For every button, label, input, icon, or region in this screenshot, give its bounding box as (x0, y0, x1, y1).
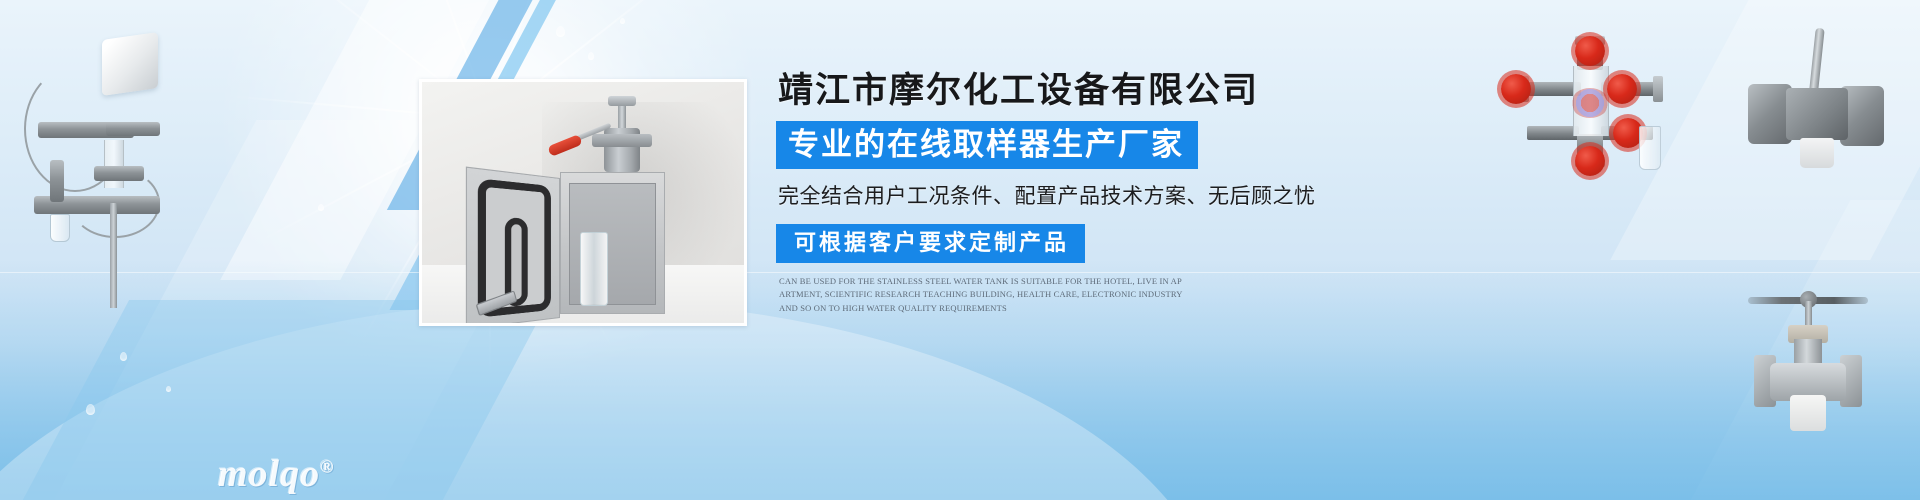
outlet-cap (1790, 395, 1826, 431)
valve-flange (1754, 355, 1776, 407)
sample-bottle (580, 232, 608, 306)
diagonal-ribbon (1670, 200, 1920, 500)
banner-text-block: 靖江市摩尔化工设备有限公司 专业的在线取样器生产厂家 完全结合用户工况条件、配置… (776, 72, 1396, 316)
cta-banner: 可根据客户要求定制产品 (776, 224, 1085, 263)
wave-highlight (0, 300, 1220, 500)
capillary-tube (70, 168, 160, 238)
left-equipment-image (10, 18, 190, 308)
water-droplet (86, 404, 95, 415)
valve-neck (1794, 339, 1822, 381)
water-droplet (620, 18, 625, 24)
watermark-text: molqo (218, 453, 320, 495)
red-handwheel-icon (1575, 36, 1605, 66)
handwheel-hub (1800, 291, 1817, 308)
valve-flange (1840, 355, 1862, 407)
capillary-tube (24, 66, 126, 192)
promo-banner: 靖江市摩尔化工设备有限公司 专业的在线取样器生产厂家 完全结合用户工况条件、配置… (0, 0, 1920, 500)
water-droplet (588, 52, 594, 60)
handwheel-bar (1748, 297, 1868, 304)
sub-headline: 完全结合用户工况条件、配置产品技术方案、无后顾之忧 (778, 186, 1396, 207)
registered-trademark-icon: ® (320, 456, 334, 476)
transmitter-housing (102, 32, 158, 96)
right-equipment-lever-valve (1740, 30, 1900, 200)
sight-glass-chamber (1573, 66, 1609, 136)
valve-flange (1653, 76, 1663, 102)
insertion-probe (110, 203, 117, 308)
outlet-nozzle (1800, 138, 1834, 168)
english-description: CAN BE USED FOR THE STAINLESS STEEL WATE… (779, 275, 1183, 316)
water-droplet (166, 386, 171, 392)
right-equipment-gate-valve (1712, 235, 1902, 415)
sample-bottle (1639, 126, 1661, 170)
valve-arm (1523, 82, 1581, 96)
sampler-valve-head (590, 100, 652, 180)
watermark-logo: molqo® (218, 455, 335, 493)
valve-arm-vertical (1577, 134, 1603, 160)
valve-cap (608, 96, 636, 106)
right-equipment-cross-valve (1497, 30, 1687, 170)
valve-flange (1575, 158, 1605, 167)
valve-stem (1805, 301, 1812, 361)
red-handwheel-icon (1501, 74, 1531, 104)
valve-block (106, 122, 160, 136)
water-droplet (556, 26, 565, 37)
valve-bonnet (1788, 325, 1828, 343)
red-handwheel-icon (1613, 118, 1643, 148)
cabinet-door (466, 167, 560, 326)
valve-arm-vertical (1577, 44, 1603, 70)
company-name: 靖江市摩尔化工设备有限公司 (778, 72, 1396, 111)
diagonal-ribbon (1610, 0, 1920, 260)
valve-body (1770, 363, 1846, 401)
valve-flange (592, 134, 652, 147)
valve-flange (1748, 84, 1792, 144)
lever-handle (1808, 28, 1824, 101)
valve-block (38, 122, 134, 138)
sampler-cabinet (560, 172, 665, 314)
company-seal-logo-icon (1571, 88, 1609, 118)
valve-flange (1575, 36, 1605, 45)
valve-flange (1840, 86, 1884, 146)
valve-body (1786, 88, 1848, 140)
red-handwheel-icon (1607, 74, 1637, 104)
valve-arm (1601, 126, 1653, 140)
red-handwheel-icon (1575, 146, 1605, 176)
headline-banner: 专业的在线取样器生产厂家 (776, 121, 1198, 169)
water-droplet (120, 352, 127, 361)
sight-glass (104, 140, 124, 188)
water-droplet (318, 204, 324, 211)
valve-block (34, 196, 160, 214)
sample-vial (50, 214, 70, 242)
valve-arm (1527, 126, 1579, 140)
valve-flange (1519, 76, 1529, 102)
valve-arm (1601, 82, 1659, 96)
product-photo[interactable] (419, 79, 747, 326)
valve-block (94, 166, 144, 181)
relief-valve (50, 160, 64, 202)
